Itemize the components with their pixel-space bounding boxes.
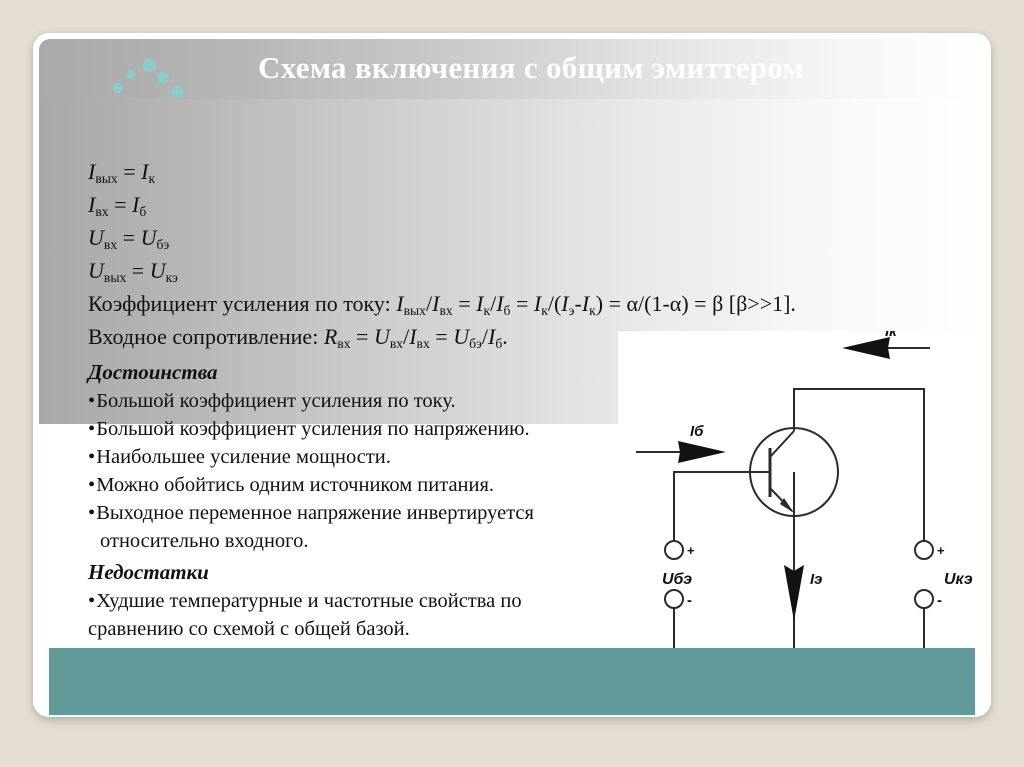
gain-op: = (689, 291, 712, 316)
list-item-label: Большой коэффициент усиления по току. (96, 390, 456, 412)
gain-sub: вх (439, 303, 452, 318)
output-voltage-label: Uкэ (944, 571, 973, 588)
gain-sym: I (496, 291, 503, 316)
list-item: •Худшие температурные и частотные свойст… (88, 587, 688, 615)
formula-row: Iвых = Iк (88, 157, 688, 190)
gain-sub: к (483, 303, 490, 318)
formula-lhs-symbol: U (88, 258, 104, 283)
title-banner: Схема включения с общим эмиттером (39, 39, 985, 99)
list-item-continuation: относительно входного. (88, 527, 688, 555)
gain-op: ) = (596, 291, 627, 316)
emitter-current-label: Iэ (810, 571, 822, 588)
page-title: Схема включения с общим эмиттером (39, 39, 985, 99)
input-resistance-label: Входное сопротивление: (88, 324, 324, 349)
common-emitter-circuit-svg: Iб Iк Iэ + - Uбэ + - Uкэ (618, 331, 985, 678)
bullet-marker: • (88, 418, 95, 440)
input-terminal-plus-label: + (687, 543, 695, 558)
list-item-label: Выходное переменное напряжение инвертиру… (96, 502, 534, 524)
list-item: •Можно обойтись одним источником питания… (88, 471, 688, 499)
gain-beta-expr: β [β>>1]. (712, 291, 796, 316)
bullet-marker: • (88, 502, 95, 524)
formula-lhs-sub: вых (95, 171, 117, 186)
formula-lhs-sub: вх (95, 204, 108, 219)
list-item: •Выходное переменное напряжение инвертир… (88, 499, 688, 527)
output-terminal-plus-label: + (937, 543, 945, 558)
output-terminal-negative[interactable] (915, 590, 933, 608)
gain-op: = (510, 291, 533, 316)
bullet-marker: • (88, 474, 95, 496)
list-item-label: Наибольшее усиление мощности. (96, 446, 391, 468)
output-terminal-positive[interactable] (915, 541, 933, 559)
formula-lhs-sub: вх (104, 237, 117, 252)
formula-equals: = (123, 159, 135, 184)
formula-row: Uвых = Uкэ (88, 256, 688, 289)
gain-sym: I (561, 291, 568, 316)
input-terminal-positive[interactable] (665, 541, 683, 559)
footer-accent-bar (49, 648, 975, 715)
circuit-diagram-panel: Iб Iк Iэ + - Uбэ + - Uкэ (618, 331, 985, 678)
formula-rhs-symbol: U (150, 258, 166, 283)
slide-card: Схема включения с общим эмиттером Iвых =… (33, 33, 991, 717)
gain-sub: к (541, 303, 548, 318)
list-item-continuation: сравнению со схемой с общей базой. (88, 615, 688, 643)
gain-op: - (574, 291, 581, 316)
gain-sub: б (504, 303, 511, 318)
formula-rhs-sub: б (139, 204, 146, 219)
gain-sub: э (569, 303, 575, 318)
list-item-label: Можно обойтись одним источником питания. (96, 474, 494, 496)
formula-rhs-sub: к (148, 171, 155, 186)
slide-content: Iвых = Iк Iвх = Iб Uвх = Uбэ Uвых = Uкэ … (88, 157, 688, 643)
bullet-marker: • (88, 390, 95, 412)
list-item-label: Большой коэффициент усиления по напряжен… (96, 418, 529, 440)
formula-rhs-sub: кэ (166, 270, 178, 285)
formula-rhs-sub: бэ (156, 237, 169, 252)
current-gain-label: Коэффициент усиления по току: (88, 291, 396, 316)
list-item: •Большой коэффициент усиления по току. (88, 387, 688, 415)
formula-row: Uвх = Uбэ (88, 223, 688, 256)
formula-lhs-sub: вых (104, 270, 126, 285)
base-current-label: Iб (690, 423, 704, 440)
formula-lhs-symbol: U (88, 225, 104, 250)
bullet-marker: • (88, 590, 95, 612)
gain-sub: вых (404, 303, 426, 318)
gain-alpha-expr: α/(1-α) (627, 291, 689, 316)
section-heading-disadvantages: Недостатки (88, 557, 688, 587)
current-gain-line: Коэффициент усиления по току: Iвых/Iвх =… (88, 289, 991, 322)
output-terminal-minus-label: - (937, 592, 942, 609)
formula-rhs-symbol: U (141, 225, 157, 250)
formula-equals: = (114, 192, 126, 217)
gain-op: /( (548, 291, 561, 316)
section-heading-advantages: Достоинства (88, 357, 688, 387)
list-item: •Наибольшее усиление мощности. (88, 443, 688, 471)
gain-sym: I (396, 291, 403, 316)
list-item: •Большой коэффициент усиления по напряже… (88, 415, 688, 443)
collector-current-label: Iк (885, 331, 898, 340)
formula-equals: = (123, 225, 135, 250)
bullet-marker: • (88, 446, 95, 468)
gain-sub: к (589, 303, 596, 318)
input-terminal-negative[interactable] (665, 590, 683, 608)
gain-op: = (453, 291, 476, 316)
formula-row: Iвх = Iб (88, 190, 688, 223)
formula-equals: = (132, 258, 144, 283)
list-item-label: Худшие температурные и частотные свойств… (96, 590, 521, 612)
input-voltage-label: Uбэ (662, 571, 692, 588)
input-terminal-minus-label: - (687, 592, 692, 609)
